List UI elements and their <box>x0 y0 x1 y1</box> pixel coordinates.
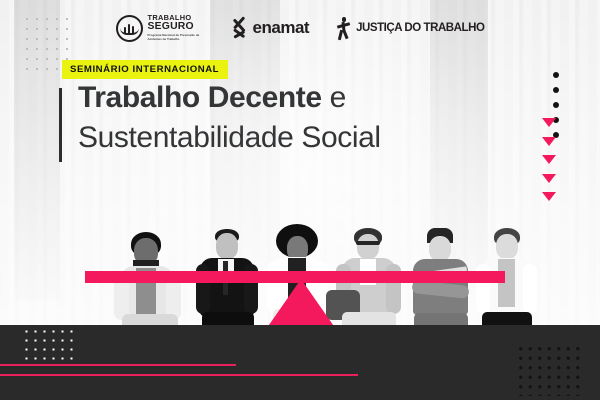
dot-grid-bottom-left <box>22 318 74 366</box>
seminar-eyebrow-badge: SEMINÁRIO INTERNACIONAL <box>62 60 228 79</box>
justica-do-trabalho-wordmark: JUSTIÇA DO TRABALHO <box>356 22 484 34</box>
headline-bold-part: Trabalho Decente <box>78 81 322 114</box>
trabalho-seguro-line2: SEGURO <box>148 22 208 32</box>
logo-enamat: enamat <box>234 16 310 41</box>
enamat-wordmark: enamat <box>253 18 310 38</box>
pink-rule-2 <box>0 374 358 376</box>
running-figure-icon <box>335 16 351 40</box>
chevron-arrows-icon <box>234 16 251 41</box>
headline-line-2: Sustentabilidade Social <box>78 120 381 155</box>
seminar-banner: TRABALHO SEGURO Programa Nacional de Pre… <box>0 0 600 400</box>
dot-grid-bottom-right <box>516 344 582 396</box>
people-in-hand-circle-icon <box>116 15 143 42</box>
pink-rule-1 <box>0 364 236 366</box>
headline-tail-part: e <box>322 81 346 114</box>
page-title: Trabalho Decente e Sustentabilidade Soci… <box>78 80 381 156</box>
headline-line-1: Trabalho Decente e <box>78 80 381 115</box>
trabalho-seguro-tagline: Programa Nacional de Prevenção de Aciden… <box>148 34 208 42</box>
logo-trabalho-seguro: TRABALHO SEGURO Programa Nacional de Pre… <box>116 14 208 42</box>
headline-vertical-rule <box>59 88 62 162</box>
decor-triangle-column <box>542 118 556 211</box>
logo-justica-do-trabalho: JUSTIÇA DO TRABALHO <box>335 16 484 40</box>
bottom-dark-band <box>0 325 600 400</box>
logo-strip: TRABALHO SEGURO Programa Nacional de Pre… <box>0 0 600 56</box>
